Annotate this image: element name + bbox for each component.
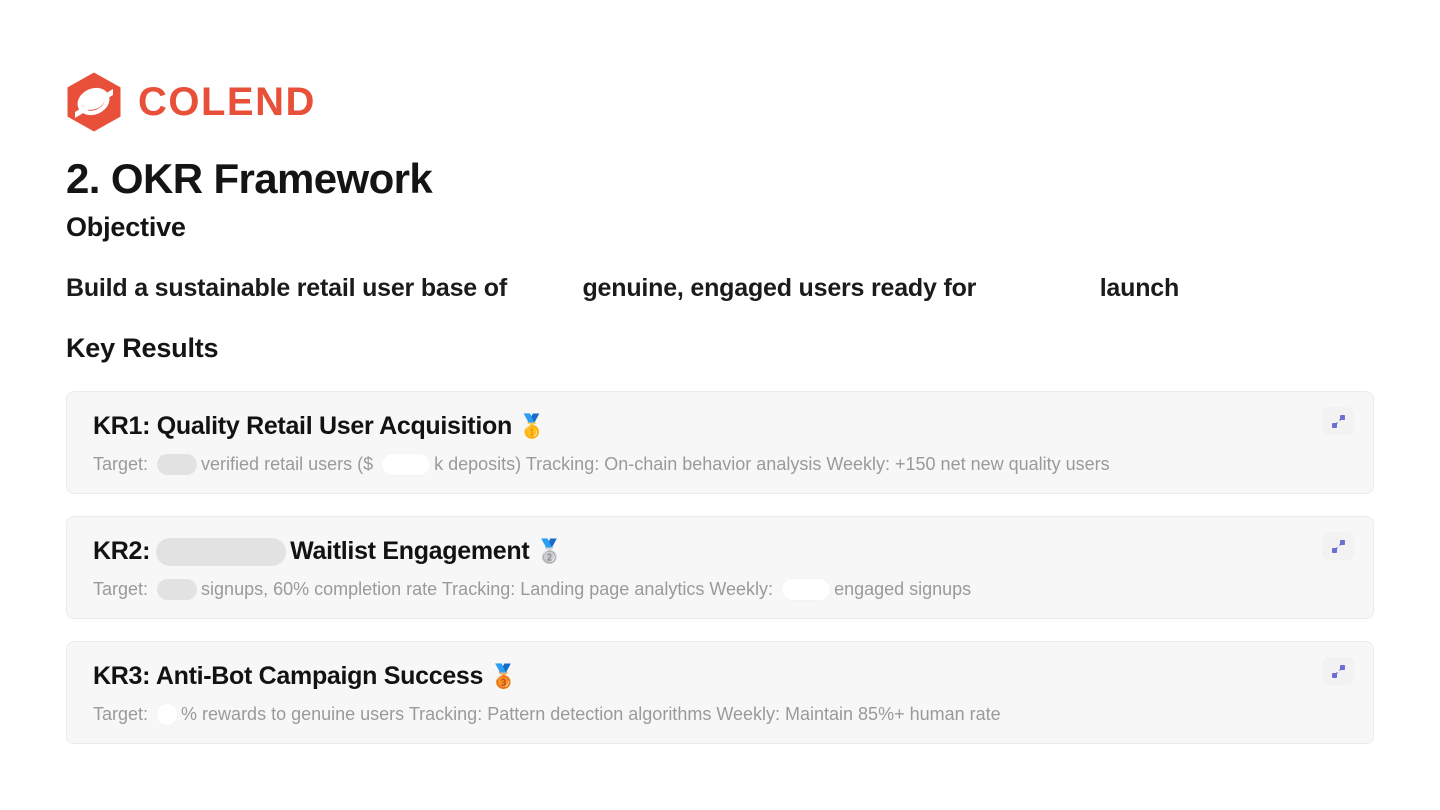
key-result-detail: Target: % rewards to genuine users Track… <box>93 702 1347 726</box>
key-result-title: KR2:Waitlist Engagement🥈 <box>93 536 1347 567</box>
expand-card-button[interactable] <box>1322 407 1354 435</box>
key-result-detail-text: Target: <box>93 579 148 599</box>
key-result-detail-text: Target: <box>93 454 148 474</box>
brand-header: COLEND <box>66 72 316 132</box>
gold-medal-icon: 🥇 <box>518 413 546 439</box>
colend-hexagon-coin-logo <box>66 72 122 132</box>
okr-framework-page: COLEND 2. OKR Framework Objective Build … <box>0 0 1440 810</box>
expand-diagonal-icon <box>1331 414 1346 429</box>
key-result-detail-redaction <box>157 704 177 725</box>
key-result-detail-text: % rewards to genuine users Tracking: Pat… <box>181 704 1001 724</box>
expand-card-button[interactable] <box>1322 532 1354 560</box>
key-result-card[interactable]: KR3: Anti-Bot Campaign Success🥉Target: %… <box>66 641 1374 744</box>
objective-part-3: launch <box>1100 274 1179 302</box>
key-result-card[interactable]: KR1: Quality Retail User Acquisition🥇Tar… <box>66 391 1374 494</box>
key-result-title-prefix: KR2: <box>93 537 150 565</box>
key-results-heading: Key Results <box>66 332 218 364</box>
page-title: 2. OKR Framework <box>66 155 432 202</box>
key-result-detail: Target: verified retail users ($ k depos… <box>93 452 1347 476</box>
key-result-title: KR3: Anti-Bot Campaign Success🥉 <box>93 661 1347 692</box>
objective-heading: Objective <box>66 211 186 243</box>
bronze-medal-icon: 🥉 <box>489 663 517 689</box>
expand-card-button[interactable] <box>1322 657 1354 685</box>
expand-diagonal-icon <box>1331 664 1346 679</box>
key-result-title-prefix: KR1: Quality Retail User Acquisition <box>93 412 512 440</box>
key-result-detail-text: verified retail users ($ <box>201 454 373 474</box>
key-result-title-prefix: KR3: Anti-Bot Campaign Success <box>93 662 483 690</box>
brand-wordmark: COLEND <box>138 82 316 122</box>
key-result-detail-redaction <box>782 579 830 600</box>
key-result-detail-redaction <box>157 579 197 600</box>
key-result-detail-redaction <box>382 454 430 475</box>
key-result-title: KR1: Quality Retail User Acquisition🥇 <box>93 411 1347 442</box>
expand-diagonal-icon <box>1331 539 1346 554</box>
key-result-detail-redaction <box>157 454 197 475</box>
key-result-detail-text: k deposits) Tracking: On-chain behavior … <box>434 454 1110 474</box>
key-result-card[interactable]: KR2:Waitlist Engagement🥈Target: signups,… <box>66 516 1374 619</box>
key-result-title-suffix: Waitlist Engagement <box>290 537 529 565</box>
objective-part-1: Build a sustainable retail user base of <box>66 274 507 302</box>
key-results-list: KR1: Quality Retail User Acquisition🥇Tar… <box>66 391 1374 766</box>
key-result-detail-text: Target: <box>93 704 148 724</box>
key-result-detail-text: engaged signups <box>834 579 971 599</box>
key-result-detail-text: signups, 60% completion rate Tracking: L… <box>201 579 773 599</box>
objective-statement: Build a sustainable retail user base of … <box>66 272 1386 305</box>
objective-part-2: genuine, engaged users ready for <box>582 274 976 302</box>
key-result-title-redaction <box>156 538 286 566</box>
silver-medal-icon: 🥈 <box>535 538 563 564</box>
key-result-detail: Target: signups, 60% completion rate Tra… <box>93 577 1347 601</box>
